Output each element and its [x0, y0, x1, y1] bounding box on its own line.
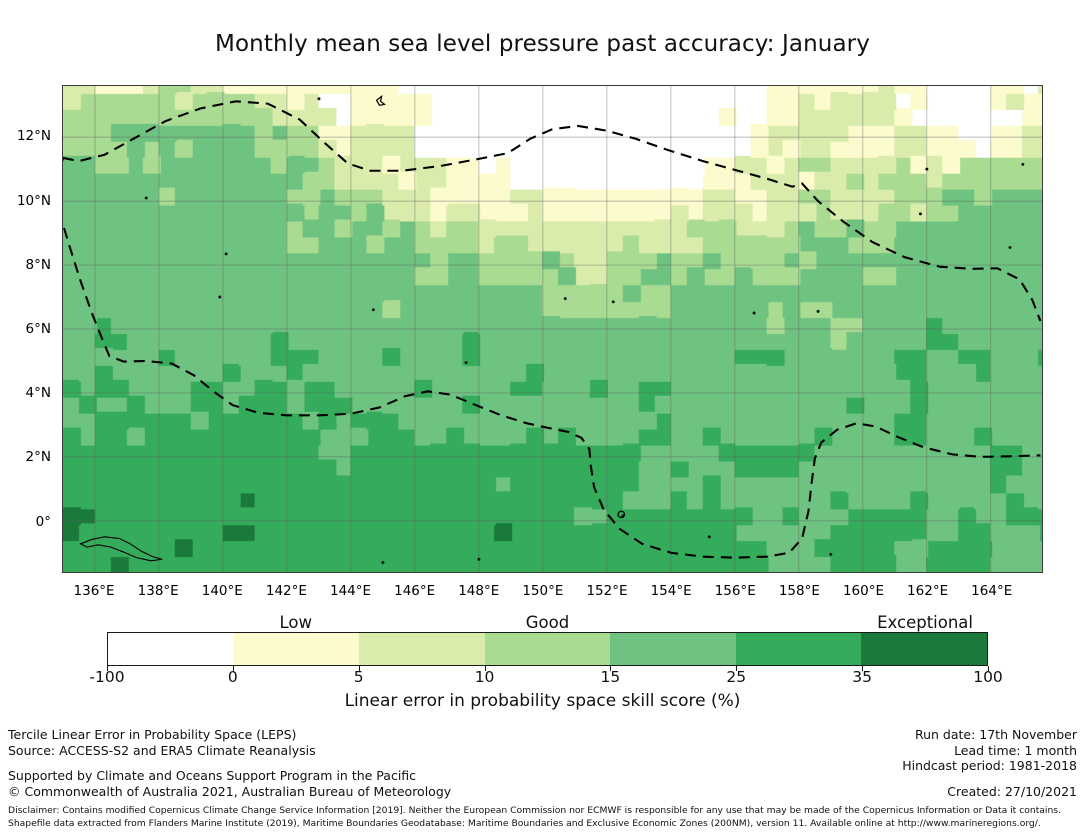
colorbar-segments [107, 632, 988, 666]
footer-left: Tercile Linear Error in Probability Spac… [8, 727, 451, 799]
disclaimer-line2: Shapefile data extracted from Flanders M… [8, 818, 1061, 831]
latitude-tick-label: 6°N [26, 321, 51, 337]
disclaimer: Disclaimer: Contains modified Copernicus… [8, 805, 1061, 830]
longitude-tick-label: 152°E [586, 583, 627, 599]
disclaimer-line1: Disclaimer: Contains modified Copernicus… [8, 805, 1061, 818]
colorbar-segment-1 [234, 633, 360, 665]
latitude-tick-label: 8°N [26, 257, 51, 273]
colorbar-tick-mark [988, 666, 989, 671]
colorbar-segment-0 [108, 633, 234, 665]
latitude-tick-label: 4°N [26, 385, 51, 401]
colorbar-tick-mark [862, 666, 863, 671]
longitude-tick-label: 146°E [394, 583, 435, 599]
latitude-tick-label: 10°N [17, 193, 51, 209]
longitude-tick-label: 164°E [971, 583, 1012, 599]
colorbar-tick-mark [107, 666, 108, 671]
latitude-tick-label: 12°N [17, 128, 51, 144]
longitude-tick-label: 144°E [330, 583, 371, 599]
longitude-tick-label: 156°E [715, 583, 756, 599]
longitude-tick-label: 140°E [202, 583, 243, 599]
footer-left-line4: © Commonwealth of Australia 2021, Austra… [8, 784, 451, 800]
colorbar-tick-mark [359, 666, 360, 671]
longitude-tick-label: 158°E [779, 583, 820, 599]
longitude-tick-label: 160°E [843, 583, 884, 599]
run-date: Run date: 17th November [902, 727, 1077, 743]
hindcast-period: Hindcast period: 1981-2018 [902, 758, 1077, 774]
colorbar-segment-6 [861, 633, 987, 665]
map-plot-area [62, 85, 1043, 573]
footer-left-line2: Source: ACCESS-S2 and ERA5 Climate Reana… [8, 743, 451, 759]
colorbar-tick-mark [736, 666, 737, 671]
colorbar-axis-title: Linear error in probability space skill … [0, 691, 1085, 711]
page-title: Monthly mean sea level pressure past acc… [0, 31, 1085, 57]
colorbar-category-good: Good [526, 613, 569, 632]
longitude-tick-label: 148°E [458, 583, 499, 599]
colorbar-segment-3 [485, 633, 611, 665]
footer-left-line1: Tercile Linear Error in Probability Spac… [8, 727, 451, 743]
latitude-tick-label: 0° [36, 514, 51, 530]
latitude-tick-label: 2°N [26, 449, 51, 465]
created-date: Created: 27/10/2021 [902, 784, 1077, 800]
longitude-tick-label: 150°E [522, 583, 563, 599]
colorbar-segment-2 [359, 633, 485, 665]
longitude-tick-label: 162°E [907, 583, 948, 599]
eez-and-coastline-overlay [63, 86, 1042, 572]
colorbar-segment-5 [736, 633, 862, 665]
colorbar-category-low: Low [280, 613, 313, 632]
colorbar-tick-mark [233, 666, 234, 671]
colorbar-tick-mark [485, 666, 486, 671]
longitude-tick-label: 136°E [74, 583, 115, 599]
footer-left-line3: Supported by Climate and Oceans Support … [8, 768, 451, 784]
longitude-tick-label: 142°E [266, 583, 307, 599]
longitude-tick-label: 138°E [138, 583, 179, 599]
colorbar-segment-4 [610, 633, 736, 665]
colorbar-tick-mark [610, 666, 611, 671]
lead-time: Lead time: 1 month [902, 743, 1077, 759]
colorbar [107, 632, 988, 666]
colorbar-category-exceptional: Exceptional [877, 613, 973, 632]
longitude-tick-label: 154°E [651, 583, 692, 599]
footer-right: Run date: 17th November Lead time: 1 mon… [902, 727, 1077, 799]
